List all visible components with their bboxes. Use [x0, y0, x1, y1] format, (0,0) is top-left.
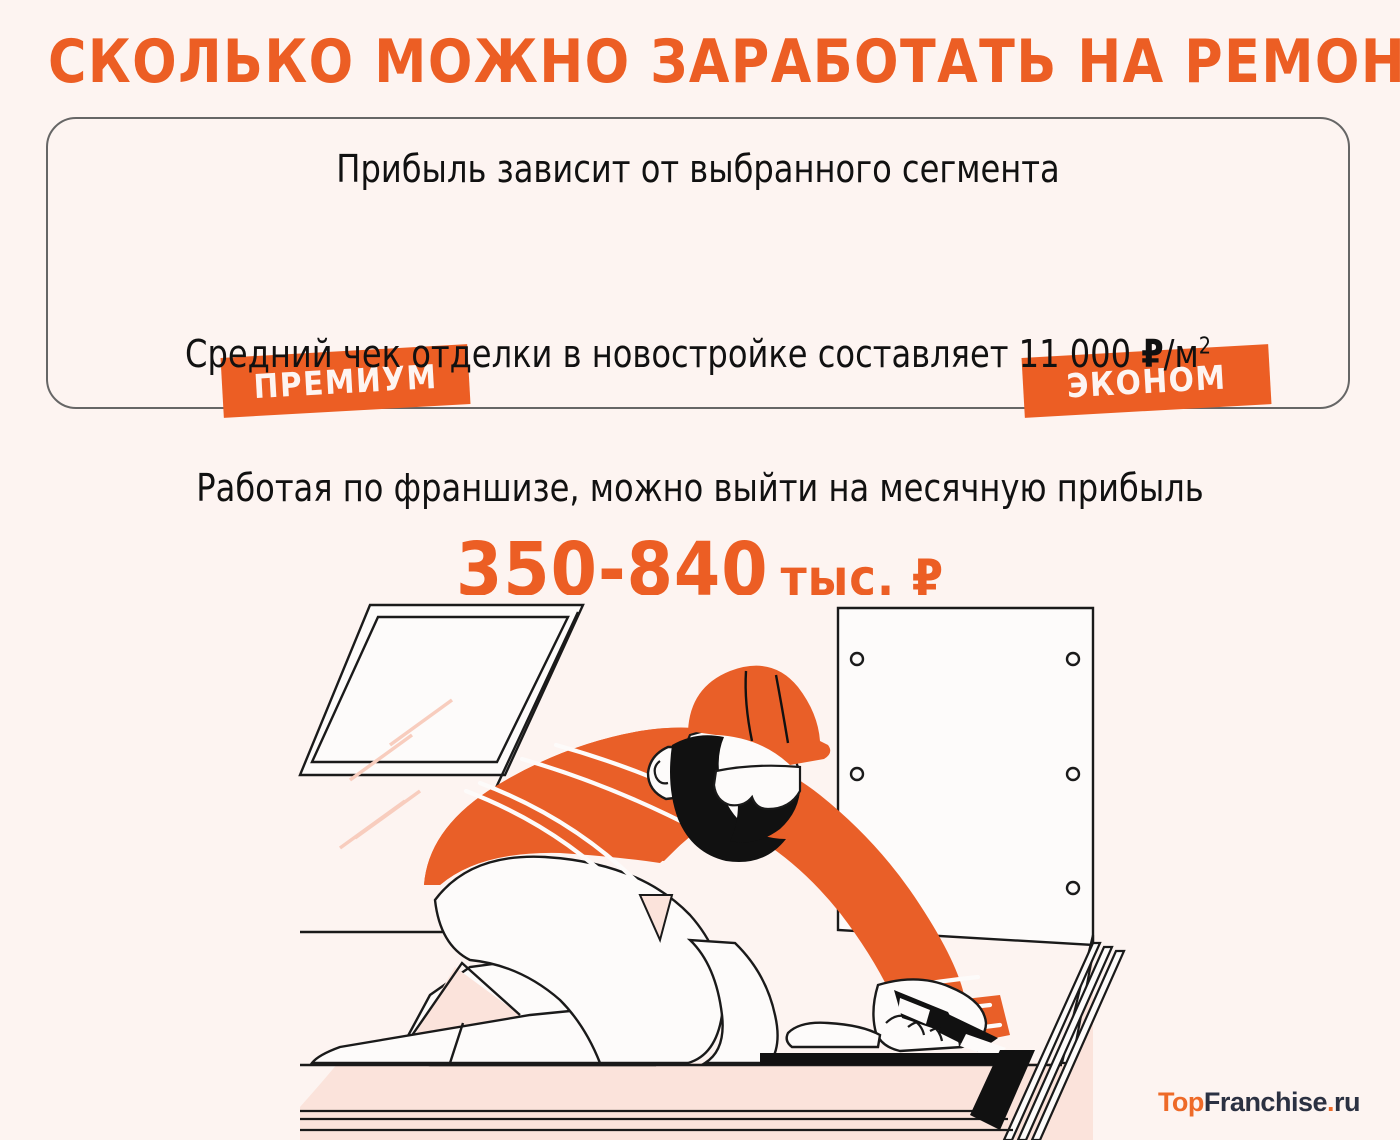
logo-dot: .: [1327, 1087, 1334, 1117]
safety-glasses-icon: [714, 766, 800, 809]
logo-ru: ru: [1334, 1087, 1360, 1117]
square-power: 2: [1199, 333, 1211, 359]
screw-hole: [1067, 882, 1079, 894]
average-check-prefix: Средний чек отделки в новостройке состав…: [185, 332, 1141, 376]
topfranchise-logo[interactable]: TopFranchise.ru: [1158, 1087, 1360, 1118]
profit-caption: Работая по франшизе, можно выйти на меся…: [42, 466, 1358, 510]
average-check-line: Средний чек отделки в новостройке состав…: [87, 332, 1309, 376]
straight-edge: [760, 1053, 1005, 1065]
screw-hole: [851, 653, 863, 665]
logo-top: Top: [1158, 1087, 1204, 1117]
page-title: СКОЛЬКО МОЖНО ЗАРАБОТАТЬ НА РЕМОНТЕ: [48, 30, 1319, 94]
infographic-page: СКОЛЬКО МОЖНО ЗАРАБОТАТЬ НА РЕМОНТЕ Приб…: [0, 0, 1400, 1140]
ruble-sign: ₽: [1141, 332, 1163, 376]
card-headline: Прибыль зависит от выбранного сегмента: [87, 147, 1309, 191]
logo-franchise: Franchise: [1204, 1087, 1327, 1117]
screw-hole: [1067, 653, 1079, 665]
screw-hole: [851, 768, 863, 780]
per-square-meter: /м: [1164, 332, 1199, 376]
segment-card: Прибыль зависит от выбранного сегмента П…: [46, 117, 1350, 409]
worker-illustration: [0, 595, 1400, 1140]
screw-hole: [1067, 768, 1079, 780]
